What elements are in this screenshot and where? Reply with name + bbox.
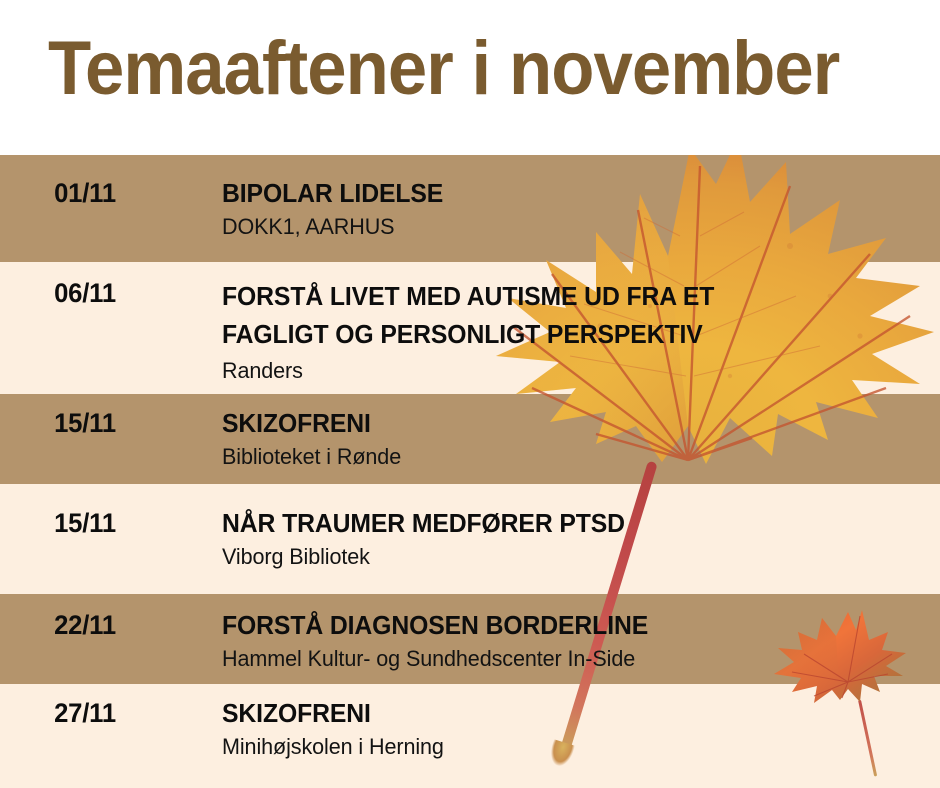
event-title: NÅR TRAUMER MEDFØRER PTSD (222, 508, 901, 540)
event-title: SKIZOFRENI (222, 408, 901, 440)
event-title: FORSTÅ LIVET MED AUTISME UD FRA ET FAGLI… (222, 278, 901, 354)
event-venue: Minihøjskolen i Herning (222, 732, 908, 762)
event-venue: Hammel Kultur- og Sundhedscenter In-Side (222, 644, 908, 674)
event-date: 22/11 (4, 610, 166, 641)
poster-header: Temaaftener i november (0, 0, 940, 155)
event-title: FORSTÅ DIAGNOSEN BORDERLINE (222, 610, 901, 642)
event-title: BIPOLAR LIDELSE (222, 178, 901, 210)
event-details: FORSTÅ LIVET MED AUTISME UD FRA ET FAGLI… (222, 278, 922, 386)
event-date: 01/11 (4, 178, 166, 209)
event-venue: Randers (222, 356, 908, 386)
event-details: FORSTÅ DIAGNOSEN BORDERLINE Hammel Kultu… (222, 610, 922, 674)
event-title: SKIZOFRENI (222, 698, 901, 730)
event-date: 15/11 (4, 508, 166, 539)
event-details: SKIZOFRENI Minihøjskolen i Herning (222, 698, 922, 762)
event-details: NÅR TRAUMER MEDFØRER PTSD Viborg Bibliot… (222, 508, 922, 572)
page-title: Temaaftener i november (48, 28, 839, 110)
event-details: SKIZOFRENI Biblioteket i Rønde (222, 408, 922, 472)
event-date: 15/11 (4, 408, 166, 439)
poster-canvas: Temaaftener i november 01/11 BIPOLAR LID… (0, 0, 940, 788)
event-date: 27/11 (4, 698, 166, 729)
event-date: 06/11 (4, 278, 166, 309)
event-venue: Viborg Bibliotek (222, 542, 908, 572)
event-details: BIPOLAR LIDELSE DOKK1, AARHUS (222, 178, 922, 242)
event-venue: Biblioteket i Rønde (222, 442, 908, 472)
event-venue: DOKK1, AARHUS (222, 212, 908, 242)
